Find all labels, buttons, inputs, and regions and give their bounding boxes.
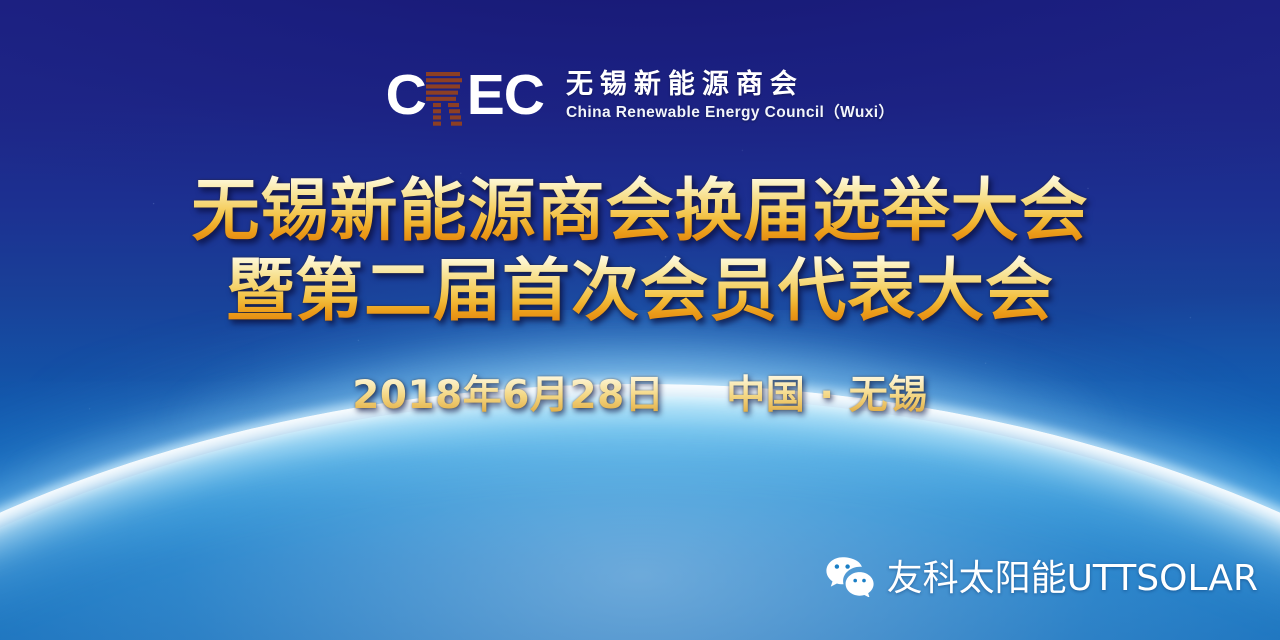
event-date: 2018年6月28日 [352, 372, 664, 420]
crec-logo-lockup: C [0, 66, 1280, 126]
event-location: 中国 · 无锡 [726, 372, 927, 420]
wechat-icon [825, 555, 875, 602]
event-poster: C [0, 0, 1280, 640]
wechat-watermark: 友科太阳能UTTSOLAR [825, 555, 1258, 602]
event-meta-row: 2018年6月28日 中国 · 无锡 [0, 372, 1280, 420]
wechat-account-name: 友科太阳能UTTSOLAR [887, 558, 1258, 600]
event-title: 无锡新能源商会换届选举大会 暨第二届首次会员代表大会 [0, 172, 1280, 332]
event-title-line-2: 暨第二届首次会员代表大会 [0, 252, 1280, 332]
org-name-english: China Renewable Energy Council（Wuxi） [566, 103, 894, 123]
org-name-chinese: 无锡新能源商会 [566, 68, 894, 100]
organization-name-block: 无锡新能源商会 China Renewable Energy Council（W… [566, 66, 894, 123]
event-title-line-1: 无锡新能源商会换届选举大会 [0, 172, 1280, 252]
crec-wordmark: C [386, 66, 544, 126]
crec-letter-e: E [467, 66, 504, 124]
crec-letter-c-last: C [504, 66, 544, 124]
crec-letter-c-first: C [386, 66, 426, 124]
striped-r-icon [424, 70, 466, 126]
